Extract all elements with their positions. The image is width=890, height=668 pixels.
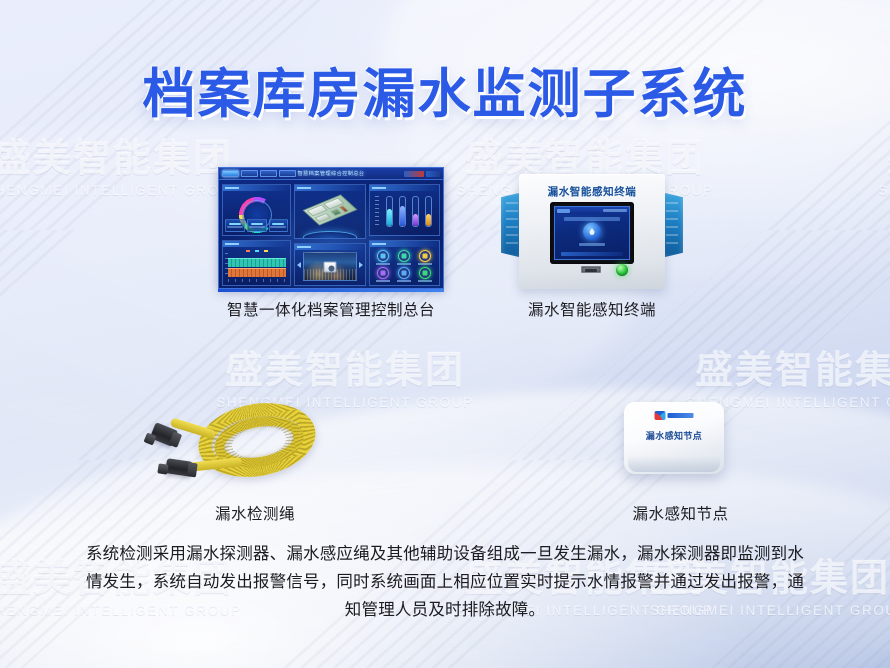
console-column-left [222, 184, 291, 286]
console-tab[interactable] [241, 170, 258, 177]
panel-header [370, 241, 439, 247]
product-terminal: 漏水智能感知终端 漏水智能感知终端 [497, 170, 687, 320]
tube-y-axis [375, 196, 379, 227]
tube-gauge [425, 196, 432, 227]
panel-header [295, 244, 364, 250]
poster-root: 盛美智能集团 SHENGMEI INTELLIGENT GROUP 盛美智能集团… [0, 0, 890, 668]
mini-card[interactable] [247, 219, 267, 232]
water-drop-icon [583, 223, 601, 241]
node-brand-logo [655, 411, 694, 420]
terminal-panel-label: 漏水智能感知终端 [519, 184, 665, 199]
legend-item [264, 250, 268, 252]
function-icon-button[interactable] [376, 250, 390, 265]
gauge-panel [222, 184, 291, 236]
chart-legend [246, 250, 268, 252]
console-screen-title: 智慧档案管理综合控制总台 [297, 170, 364, 177]
tube-gauge-panel [369, 184, 440, 236]
console-header-bar: 智慧档案管理综合控制总台 [219, 168, 443, 180]
console-tab[interactable] [279, 170, 296, 177]
model-base-ring [303, 231, 357, 239]
product-caption-terminal: 漏水智能感知终端 [497, 298, 687, 320]
speaker-icon [398, 267, 410, 279]
console-column-middle [294, 184, 365, 286]
node-device-label: 漏水感知节点 [624, 429, 724, 442]
brand-mark-icon [655, 411, 666, 420]
watermark-cn: 盛美智能集团 [842, 140, 890, 180]
product-node: 漏水感知节点 漏水感知节点 [598, 398, 763, 524]
console-alarm-chip[interactable] [404, 171, 424, 177]
cable-connector-tip [157, 463, 168, 474]
page-title: 档案库房漏水监测子系统 [143, 52, 748, 128]
brand-wordmark [668, 413, 694, 418]
function-icons-panel [369, 240, 440, 286]
mini-card[interactable] [225, 219, 245, 232]
chart-band-teal [228, 258, 286, 267]
product-caption-node: 漏水感知节点 [598, 502, 763, 524]
console-body [219, 180, 443, 289]
panel-header [370, 185, 439, 191]
terminal-screen-ui [554, 206, 630, 260]
console-tab-active[interactable] [222, 170, 239, 177]
product-caption-cable: 漏水检测绳 [140, 502, 370, 524]
trend-chart-panel [222, 240, 291, 286]
tube-gauge [412, 196, 419, 227]
description-paragraph: 系统检测采用漏水探测器、漏水感应绳及其他辅助设备组成一旦发生漏水，漏水探测器即监… [78, 540, 812, 624]
function-icon-button[interactable] [397, 250, 411, 265]
model-panel [294, 184, 365, 239]
camera-feed-panel [294, 243, 365, 286]
archive-room-3d-model[interactable] [303, 194, 358, 225]
terminal-port-slot [581, 266, 601, 273]
panel-header [295, 185, 364, 191]
terminal-screen[interactable] [550, 202, 634, 264]
watermark-cn: 盛美智能集团 [180, 352, 510, 392]
console-tab[interactable] [260, 170, 277, 177]
terminal-ui-caption [579, 243, 605, 247]
watermark: 盛美智能集团 SHENGMEI INTELLIGENT GROUP [842, 140, 890, 198]
light-icon [377, 267, 389, 279]
legend-item [246, 250, 250, 252]
tube-gauge [399, 196, 406, 227]
console-screen: 智慧档案管理综合控制总台 [218, 167, 444, 289]
chart-band-orange [228, 268, 286, 277]
mini-card[interactable] [269, 219, 289, 232]
next-arrow-icon[interactable] [359, 262, 363, 268]
camera-feed-image[interactable] [303, 252, 356, 281]
prev-arrow-icon[interactable] [297, 262, 301, 268]
tube-gauge [386, 196, 393, 227]
terminal-ui-footer-bar [561, 252, 623, 256]
console-header-right [404, 171, 440, 177]
function-icon-button[interactable] [418, 267, 432, 282]
humidity-icon [398, 250, 410, 262]
terminal-body: 漏水智能感知终端 [519, 174, 665, 289]
temperature-icon [377, 250, 389, 262]
node-enclosure: 漏水感知节点 [624, 402, 724, 474]
leak-detection-cable [140, 398, 370, 493]
cable-connector [165, 458, 193, 476]
legend-item [255, 250, 259, 252]
function-icon-button[interactable] [397, 267, 411, 282]
terminal-ui-subtitle [564, 217, 620, 221]
terminal-device: 漏水智能感知终端 [497, 170, 687, 289]
terminal-power-button[interactable] [616, 264, 628, 276]
function-icon-button[interactable] [418, 250, 432, 265]
alarm-icon [419, 250, 431, 262]
product-cable: 漏水检测绳 [140, 398, 370, 524]
console-underline [218, 289, 444, 292]
function-icon-button[interactable] [376, 267, 390, 282]
watermark-en: SHENGMEI INTELLIGENT GROUP [842, 183, 890, 198]
product-console: 智慧档案管理综合控制总台 [218, 167, 444, 320]
panel-header [223, 185, 290, 191]
terminal-ui-header [555, 207, 629, 214]
fan-icon [419, 267, 431, 279]
gauge-mini-cards [225, 219, 288, 232]
leak-sensing-node: 漏水感知节点 [598, 398, 763, 493]
function-icon-grid [373, 249, 436, 283]
watermark-cn: 盛美智能集团 [650, 352, 890, 392]
page-title-wrap: 档案库房漏水监测子系统 [0, 52, 890, 128]
product-caption-console: 智慧一体化档案管理控制总台 [218, 298, 444, 320]
console-status-chip[interactable] [426, 171, 440, 177]
panel-header [223, 241, 290, 247]
camera-icon [324, 261, 337, 272]
stacked-band-chart [228, 258, 286, 278]
chart-x-axis [228, 279, 286, 282]
console-column-right [369, 184, 440, 286]
tube-gauge-group [383, 196, 435, 227]
